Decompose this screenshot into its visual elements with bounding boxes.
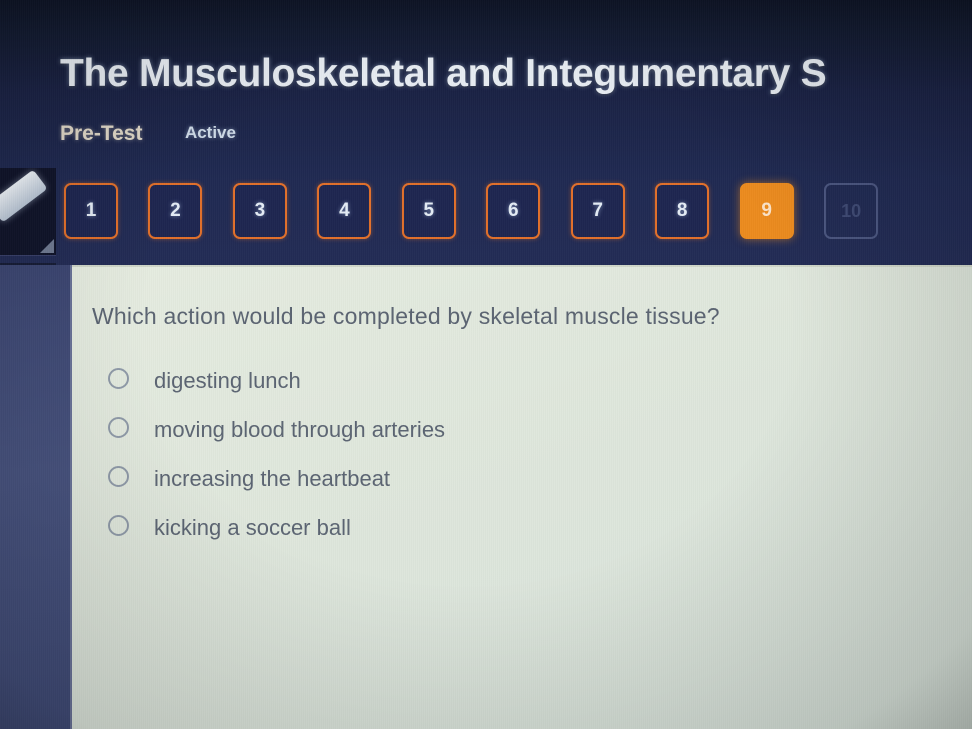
highlighter-tool-button[interactable] xyxy=(0,168,56,256)
test-type-label: Pre-Test xyxy=(60,122,142,145)
answer-option-2[interactable]: moving blood through arteries xyxy=(102,414,902,463)
test-meta: Pre-Test Active xyxy=(60,122,236,152)
question-button-3[interactable]: 3 xyxy=(233,183,287,239)
radio-button-icon[interactable] xyxy=(108,417,129,438)
question-button-7[interactable]: 7 xyxy=(571,183,625,239)
answer-options: digesting lunch moving blood through art… xyxy=(102,365,902,561)
question-button-4[interactable]: 4 xyxy=(317,183,371,239)
answer-option-3[interactable]: increasing the heartbeat xyxy=(102,463,902,512)
question-button-5[interactable]: 5 xyxy=(402,183,456,239)
question-button-6[interactable]: 6 xyxy=(486,183,540,239)
answer-option-label: kicking a soccer ball xyxy=(154,515,351,540)
highlighter-icon xyxy=(0,170,48,223)
corner-fold-icon xyxy=(40,239,54,253)
page-title: The Musculoskeletal and Integumentary S xyxy=(60,52,826,96)
answer-option-1[interactable]: digesting lunch xyxy=(102,365,902,414)
answer-option-label: moving blood through arteries xyxy=(154,417,445,442)
radio-button-icon[interactable] xyxy=(108,466,129,487)
answer-option-label: increasing the heartbeat xyxy=(154,466,390,491)
left-sidebar xyxy=(0,265,72,729)
question-button-8[interactable]: 8 xyxy=(655,183,709,239)
test-screen: The Musculoskeletal and Integumentary S … xyxy=(0,0,972,729)
test-status-label: Active xyxy=(185,123,236,142)
question-button-9[interactable]: 9 xyxy=(740,183,794,239)
question-panel: Which action would be completed by skele… xyxy=(72,265,972,729)
question-button-10: 10 xyxy=(824,183,878,239)
question-number-nav: 1 2 3 4 5 6 7 8 9 10 xyxy=(64,183,904,239)
question-button-1[interactable]: 1 xyxy=(64,183,118,239)
question-button-2[interactable]: 2 xyxy=(148,183,202,239)
answer-option-4[interactable]: kicking a soccer ball xyxy=(102,512,902,561)
radio-button-icon[interactable] xyxy=(108,368,129,389)
question-prompt: Which action would be completed by skele… xyxy=(92,303,720,330)
radio-button-icon[interactable] xyxy=(108,515,129,536)
answer-option-label: digesting lunch xyxy=(154,368,301,393)
